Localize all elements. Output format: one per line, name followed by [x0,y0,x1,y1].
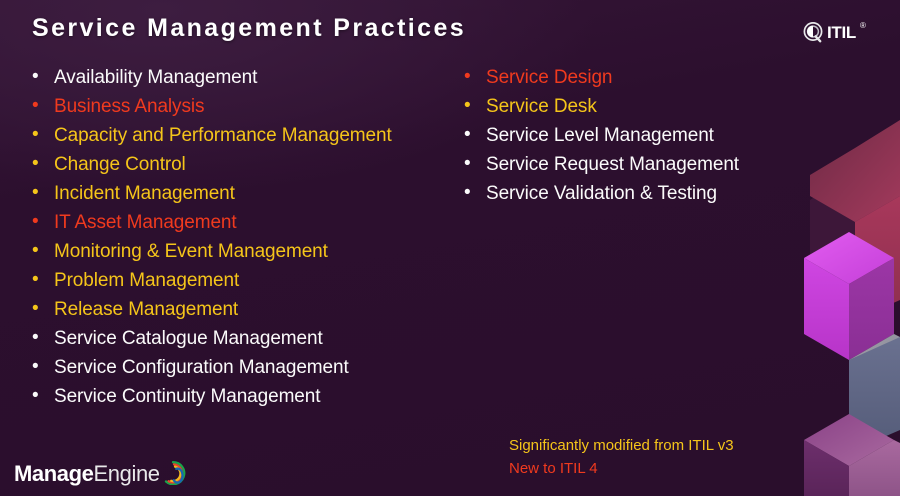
practice-label: Service Validation & Testing [486,184,717,203]
practice-label: Availability Management [54,68,257,87]
list-item: •Availability Management [32,68,452,97]
list-item: •Release Management [32,300,452,329]
manageengine-bold-text: Manage [14,463,94,485]
bullet-dot-icon: • [32,67,54,86]
practice-label: Problem Management [54,271,239,290]
bullet-dot-icon: • [32,96,54,115]
itil-q-mark-icon [802,21,824,43]
practice-label: Release Management [54,300,238,319]
list-item: •Change Control [32,155,452,184]
practice-label: Change Control [54,155,186,174]
bullet-dot-icon: • [32,357,54,376]
itil-registered-mark: ® [860,22,866,30]
itil-logo: ITIL ® [802,21,866,43]
practice-label: Service Design [486,68,612,87]
bullet-dot-icon: • [32,386,54,405]
bullet-dot-icon: • [32,299,54,318]
practice-label: Service Configuration Management [54,358,349,377]
list-item: •Business Analysis [32,97,452,126]
practices-list-right: •Service Design•Service Desk•Service Lev… [464,68,794,213]
list-item: •Service Continuity Management [32,387,452,416]
manageengine-logo: Manage Engine [14,462,187,485]
list-item: •Service Level Management [464,126,794,155]
bullet-dot-icon: • [32,241,54,260]
bullet-dot-icon: • [32,125,54,144]
practice-label: IT Asset Management [54,213,237,232]
list-item: •Problem Management [32,271,452,300]
legend-item: Significantly modified from ITIL v3 [509,434,734,457]
bullet-dot-icon: • [32,154,54,173]
bullet-dot-icon: • [32,212,54,231]
practice-label: Service Request Management [486,155,739,174]
list-item: •Service Design [464,68,794,97]
bullet-dot-icon: • [32,183,54,202]
list-item: •Service Desk [464,97,794,126]
practice-label: Service Desk [486,97,597,116]
practices-list-left: •Availability Management•Business Analys… [32,68,452,416]
bullet-dot-icon: • [32,328,54,347]
list-item: •Service Configuration Management [32,358,452,387]
practice-label: Monitoring & Event Management [54,242,328,261]
practice-label: Incident Management [54,184,235,203]
bullet-dot-icon: • [32,270,54,289]
manageengine-light-text: Engine [94,463,160,485]
practice-label: Business Analysis [54,97,204,116]
practice-label: Capacity and Performance Management [54,126,392,145]
bullet-dot-icon: • [464,67,486,86]
slide-canvas: Service Management Practices ITIL ® •Ava… [0,0,900,496]
list-item: •Capacity and Performance Management [32,126,452,155]
bullet-dot-icon: • [464,183,486,202]
list-item: •Service Request Management [464,155,794,184]
legend: Significantly modified from ITIL v3New t… [509,434,734,480]
list-item: •Service Catalogue Management [32,329,452,358]
list-item: •Monitoring & Event Management [32,242,452,271]
itil-wordmark: ITIL [827,24,856,41]
list-item: •IT Asset Management [32,213,452,242]
page-title: Service Management Practices [32,14,466,43]
cubes-graphic [780,0,900,496]
bullet-dot-icon: • [464,154,486,173]
practice-label: Service Continuity Management [54,387,320,406]
bullet-dot-icon: • [464,96,486,115]
manageengine-swoosh-icon [161,459,187,485]
decorative-cubes [780,0,900,496]
bullet-dot-icon: • [464,125,486,144]
practice-label: Service Level Management [486,126,714,145]
list-item: •Incident Management [32,184,452,213]
legend-item: New to ITIL 4 [509,457,734,480]
practice-label: Service Catalogue Management [54,329,323,348]
list-item: •Service Validation & Testing [464,184,794,213]
